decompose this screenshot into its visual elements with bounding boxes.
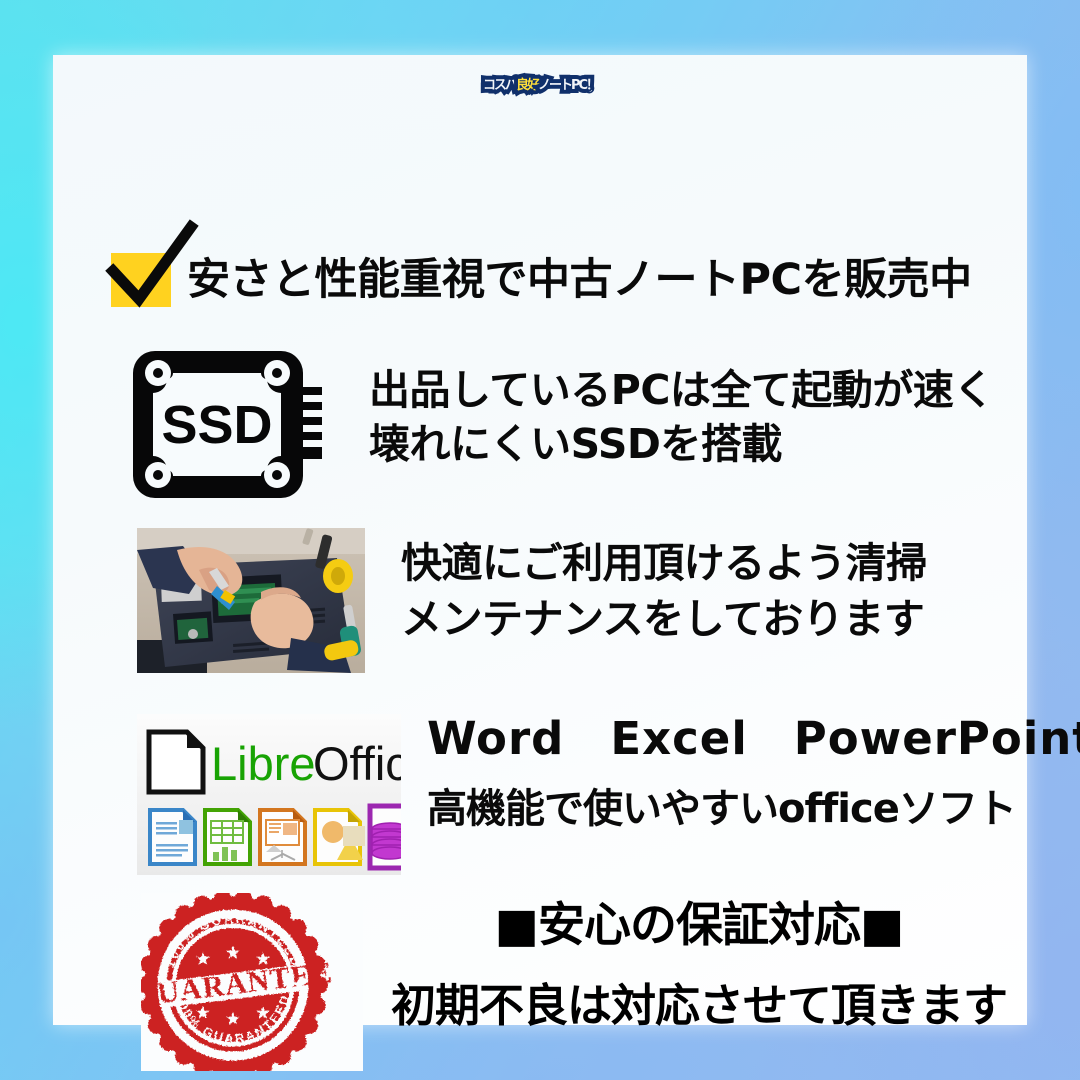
libreoffice-logo-glyph: Libre Office xyxy=(137,714,401,875)
feature-text-maintenance-line2: メンテナンスをしております xyxy=(401,592,927,648)
feature-row-ssd: SSD 出品しているPCは全て起動が速く 壊れにくいSSDを搭載 xyxy=(131,347,1031,502)
title-part-1: コスパ xyxy=(483,78,516,93)
libreoffice-module-base xyxy=(370,806,401,868)
feature-text-ssd: 出品しているPCは全て起動が速く 壊れにくいSSDを搭載 xyxy=(369,363,994,471)
warranty-detail: 初期不良は対応させて頂きます xyxy=(389,969,1009,1034)
feature-text-cheap-performance: 安さと性能重視で中古ノートPCを販売中 xyxy=(187,259,972,302)
feature-text-maintenance: 快適にご利用頂けるよう清掃 メンテナンスをしております xyxy=(401,536,927,648)
libreoffice-wordmark-office: Office xyxy=(313,737,401,790)
poster-canvas: コスパ良好ノートPC！ 安さと性能重視で中古ノートPCを販売中 xyxy=(0,0,1080,1080)
feature-row-cheap-performance: 安さと性能重視で中古ノートPCを販売中 xyxy=(111,253,1011,307)
libreoffice-module-calc xyxy=(205,810,250,864)
libreoffice-module-draw xyxy=(315,810,365,864)
libreoffice-logo: Libre Office xyxy=(137,714,401,875)
laptop-repair-illustration xyxy=(137,528,365,673)
warranty-text-block: ■安心の保証対応■ 初期不良は対応させて頂きます xyxy=(389,899,1009,1034)
feature-text-ssd-line1: 出品しているPCは全て起動が速く xyxy=(369,363,994,417)
feature-row-maintenance: 快適にご利用頂けるよう清掃 メンテナンスをしております xyxy=(137,528,1037,673)
laptop-repair-photo xyxy=(137,528,365,673)
ssd-drive-glyph: SSD xyxy=(131,347,326,502)
page-title: コスパ良好ノートPC！ xyxy=(53,79,1027,93)
svg-text:SSD: SSD xyxy=(161,395,272,455)
libreoffice-module-impress xyxy=(260,810,305,864)
feature-row-warranty: GUARANTEE 100% GUARANTEED 100% GUARANTEE… xyxy=(141,893,1041,1071)
check-mark-icon xyxy=(105,225,197,309)
feature-text-ssd-line2: 壊れにくいSSDを搭載 xyxy=(369,417,994,471)
ssd-drive-icon: SSD xyxy=(131,347,326,502)
libreoffice-module-writer xyxy=(150,810,195,864)
warranty-heading: ■安心の保証対応■ xyxy=(389,899,1009,953)
title-part-2: ノートPC！ xyxy=(538,78,597,93)
title-highlight: 良好 xyxy=(516,78,538,93)
checkbox-check-icon xyxy=(111,253,171,307)
feature-text-maintenance-line1: 快適にご利用頂けるよう清掃 xyxy=(401,536,927,592)
guarantee-stamp-glyph: GUARANTEE 100% GUARANTEED 100% GUARANTEE… xyxy=(141,893,363,1071)
office-sub-line: 高機能で使いやすいofficeソフト xyxy=(427,776,1080,834)
feature-row-office: Libre Office xyxy=(137,714,1037,875)
libreoffice-wordmark-libre: Libre xyxy=(211,737,316,790)
office-apps-line: Word Excel PowerPoint xyxy=(427,714,1080,764)
content-card: コスパ良好ノートPC！ 安さと性能重視で中古ノートPCを販売中 xyxy=(53,55,1027,1025)
office-text-block: Word Excel PowerPoint 高機能で使いやすいofficeソフト xyxy=(427,714,1080,834)
guarantee-stamp-icon: GUARANTEE 100% GUARANTEED 100% GUARANTEE… xyxy=(141,893,363,1071)
